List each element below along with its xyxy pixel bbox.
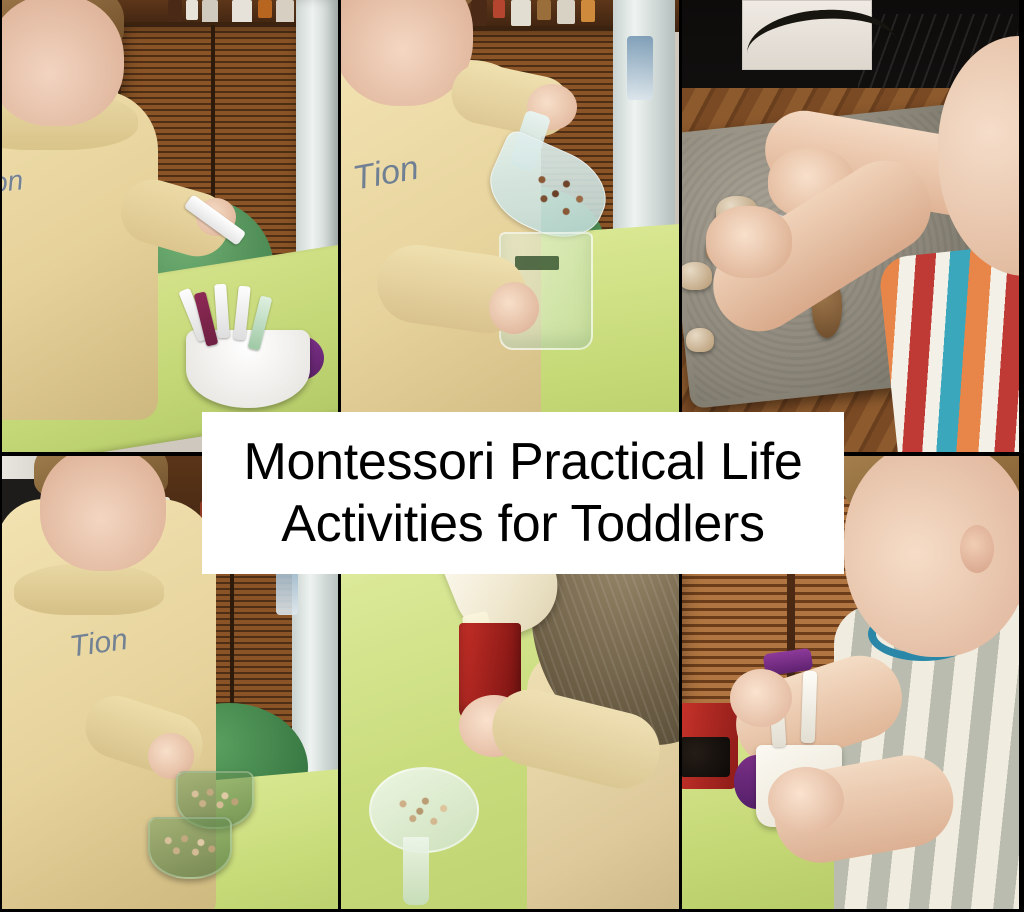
panel-pouring-beans-into-glass: Tion [341, 0, 680, 452]
panel-clothespins-on-bowl: Tion [0, 0, 338, 452]
tong-stick [801, 671, 818, 743]
child-head [0, 0, 124, 126]
shelf-item [276, 0, 294, 24]
bottle [627, 36, 653, 100]
child-hand-lower [489, 282, 539, 334]
child-left-hand [706, 206, 792, 278]
frame-edge-right [1019, 0, 1024, 912]
shelf-item [493, 0, 505, 18]
panel-divider [338, 0, 341, 452]
photo-collage: Tion Tion [0, 0, 1024, 912]
shelf-item [471, 0, 487, 26]
panel-divider [679, 0, 682, 452]
jacket-hood [14, 563, 164, 615]
child-head [844, 455, 1024, 657]
shelf-item [581, 0, 595, 22]
shelf-item [537, 0, 551, 20]
dried-beans [184, 785, 246, 815]
child-hand-lower [768, 767, 844, 833]
child-hand-upper [730, 669, 792, 727]
shelf-item [258, 0, 272, 18]
child-ear [960, 525, 994, 573]
title-line-1: Montessori Practical Life [244, 431, 803, 493]
panel-cutting-mushrooms [682, 0, 1024, 452]
title-banner: Montessori Practical Life Activities for… [202, 412, 844, 574]
shelf-item [557, 0, 575, 24]
dried-beans [156, 831, 224, 863]
red-jar [682, 703, 738, 789]
scoop-handle [403, 837, 429, 905]
dried-beans [389, 791, 459, 837]
shelf-item [511, 0, 531, 26]
mushroom [686, 328, 714, 352]
title-line-2: Activities for Toddlers [281, 493, 764, 555]
mushroom [682, 262, 712, 290]
frame-edge-left [0, 0, 2, 912]
glass-label [515, 256, 559, 270]
child-head [40, 455, 166, 571]
